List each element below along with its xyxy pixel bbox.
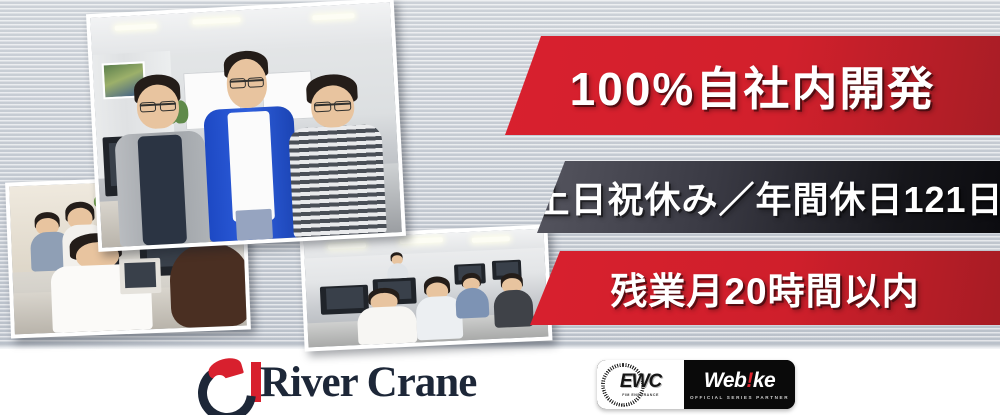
webike-logo: Web!ke OFFICIAL SERIES PARTNER bbox=[684, 360, 795, 409]
crane-swoosh-icon bbox=[196, 359, 244, 405]
webike-wordmark: Web!ke bbox=[704, 370, 775, 391]
recruitment-banner: 100%自社内開発 土日祝休み／年間休日121日 残業月20時間以内 River… bbox=[0, 0, 1000, 415]
banner-in-house-development: 100%自社内開発 bbox=[505, 36, 1000, 135]
banner-1-text: 100%自社内開発 bbox=[570, 53, 936, 119]
ewc-logo: EWC FIM ENDURANCE bbox=[597, 360, 684, 409]
webike-part1: Web bbox=[704, 369, 746, 392]
banner-overtime: 残業月20時間以内 bbox=[530, 251, 1000, 325]
banner-holidays: 土日祝休み／年間休日121日 bbox=[537, 161, 1000, 233]
river-crane-logo: River Crane bbox=[196, 357, 476, 407]
river-crane-wordmark: River Crane bbox=[260, 361, 476, 404]
photo-three-employees bbox=[86, 0, 406, 252]
white-footer-strip bbox=[0, 349, 1000, 415]
photo-open-plan-office bbox=[299, 224, 552, 351]
banner-3-text: 残業月20時間以内 bbox=[610, 261, 919, 315]
banner-2-text: 土日祝休み／年間休日121日 bbox=[533, 171, 1000, 223]
webike-subtitle: OFFICIAL SERIES PARTNER bbox=[690, 395, 789, 400]
webike-part2: ke bbox=[753, 369, 775, 392]
ewc-webike-partner-badge: EWC FIM ENDURANCE Web!ke OFFICIAL SERIES… bbox=[597, 360, 795, 409]
ewc-wordmark: EWC bbox=[620, 372, 661, 391]
ewc-subtitle: FIM ENDURANCE bbox=[622, 393, 659, 397]
